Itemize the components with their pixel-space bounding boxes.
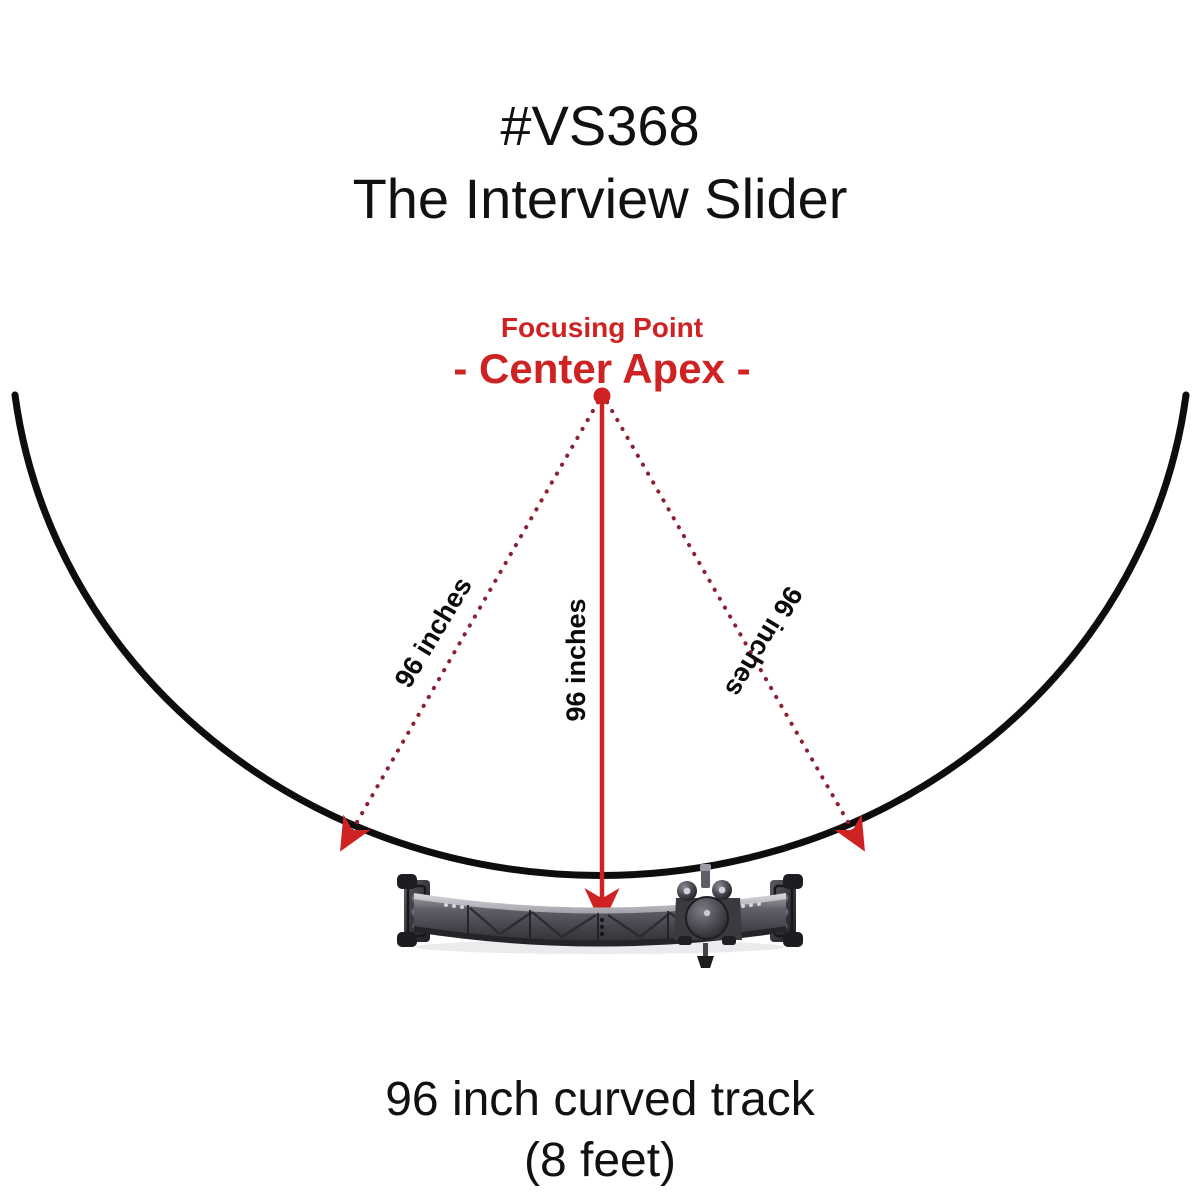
right-measurement-label: 96 inches xyxy=(719,581,808,702)
diagram-canvas: #VS368 The Interview Slider Focusing Poi… xyxy=(0,0,1200,1200)
center-apex-label: - Center Apex - xyxy=(453,345,750,392)
carriage-handle-stem xyxy=(703,943,708,957)
page-title-model: #VS368 xyxy=(500,94,699,157)
right-radius-line xyxy=(607,402,856,836)
page-title-product: The Interview Slider xyxy=(353,167,848,230)
carriage-handle-knob xyxy=(697,956,714,968)
center-apex-dot xyxy=(594,388,611,405)
caption-line-2: (8 feet) xyxy=(524,1134,676,1187)
caption-line-1: 96 inch curved track xyxy=(385,1073,816,1126)
rail-center-index xyxy=(600,918,604,936)
focusing-point-label: Focusing Point xyxy=(501,312,703,343)
center-measurement-label: 96 inches xyxy=(561,598,591,721)
interview-slider-diagram: #VS368 The Interview Slider Focusing Poi… xyxy=(0,0,1200,1200)
